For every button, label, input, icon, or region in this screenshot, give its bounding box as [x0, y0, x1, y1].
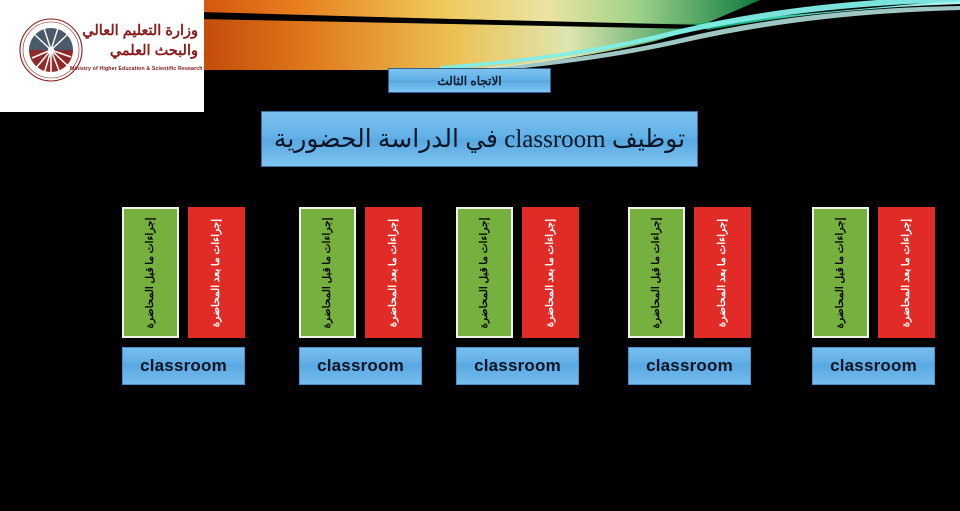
- ministry-emblem-icon: [18, 14, 84, 86]
- pre-lecture-box[interactable]: إجراءات ما قبل المحاضرة: [299, 207, 356, 338]
- post-lecture-box[interactable]: إجراءات ما بعد المحاضرة: [878, 207, 935, 338]
- classroom-label-text: classroom: [646, 356, 733, 376]
- logo-arabic-line-1: وزارة التعليم العالي: [78, 22, 198, 40]
- subtitle-banner-text: الاتجاه الثالث: [437, 74, 501, 88]
- classroom-label-text: classroom: [474, 356, 561, 376]
- pre-lecture-text: إجراءات ما قبل المحاضرة: [143, 211, 157, 335]
- logo-arabic-line-2: والبحث العلمي: [78, 42, 198, 60]
- pre-lecture-box[interactable]: إجراءات ما قبل المحاضرة: [812, 207, 869, 338]
- main-title-banner: توظيف classroom في الدراسة الحضورية: [261, 111, 698, 167]
- classroom-label-text: classroom: [830, 356, 917, 376]
- pre-lecture-text: إجراءات ما قبل المحاضرة: [320, 211, 334, 335]
- classroom-label-box[interactable]: classroom: [122, 347, 245, 385]
- ministry-logo-panel: وزارة التعليم العالي والبحث العلمي Minis…: [0, 0, 204, 112]
- pre-lecture-box[interactable]: إجراءات ما قبل المحاضرة: [628, 207, 685, 338]
- post-lecture-text: إجراءات ما بعد المحاضرة: [209, 211, 223, 335]
- classroom-label-box[interactable]: classroom: [299, 347, 422, 385]
- pre-lecture-box[interactable]: إجراءات ما قبل المحاضرة: [456, 207, 513, 338]
- post-lecture-box[interactable]: إجراءات ما بعد المحاضرة: [694, 207, 751, 338]
- post-lecture-text: إجراءات ما بعد المحاضرة: [899, 211, 913, 335]
- post-lecture-box[interactable]: إجراءات ما بعد المحاضرة: [188, 207, 245, 338]
- classroom-label-text: classroom: [317, 356, 404, 376]
- post-lecture-box[interactable]: إجراءات ما بعد المحاضرة: [522, 207, 579, 338]
- pre-lecture-text: إجراءات ما قبل المحاضرة: [833, 211, 847, 335]
- classroom-label-text: classroom: [140, 356, 227, 376]
- post-lecture-text: إجراءات ما بعد المحاضرة: [715, 211, 729, 335]
- post-lecture-box[interactable]: إجراءات ما بعد المحاضرة: [365, 207, 422, 338]
- classroom-label-box[interactable]: classroom: [456, 347, 579, 385]
- main-title-text: توظيف classroom في الدراسة الحضورية: [274, 124, 685, 154]
- pre-lecture-text: إجراءات ما قبل المحاضرة: [477, 211, 491, 335]
- classroom-label-box[interactable]: classroom: [628, 347, 751, 385]
- pre-lecture-box[interactable]: إجراءات ما قبل المحاضرة: [122, 207, 179, 338]
- logo-english-line: Ministry of Higher Education & Scientifi…: [70, 66, 200, 72]
- classroom-label-box[interactable]: classroom: [812, 347, 935, 385]
- post-lecture-text: إجراءات ما بعد المحاضرة: [543, 211, 557, 335]
- post-lecture-text: إجراءات ما بعد المحاضرة: [386, 211, 400, 335]
- pre-lecture-text: إجراءات ما قبل المحاضرة: [649, 211, 663, 335]
- subtitle-banner: الاتجاه الثالث: [388, 68, 551, 93]
